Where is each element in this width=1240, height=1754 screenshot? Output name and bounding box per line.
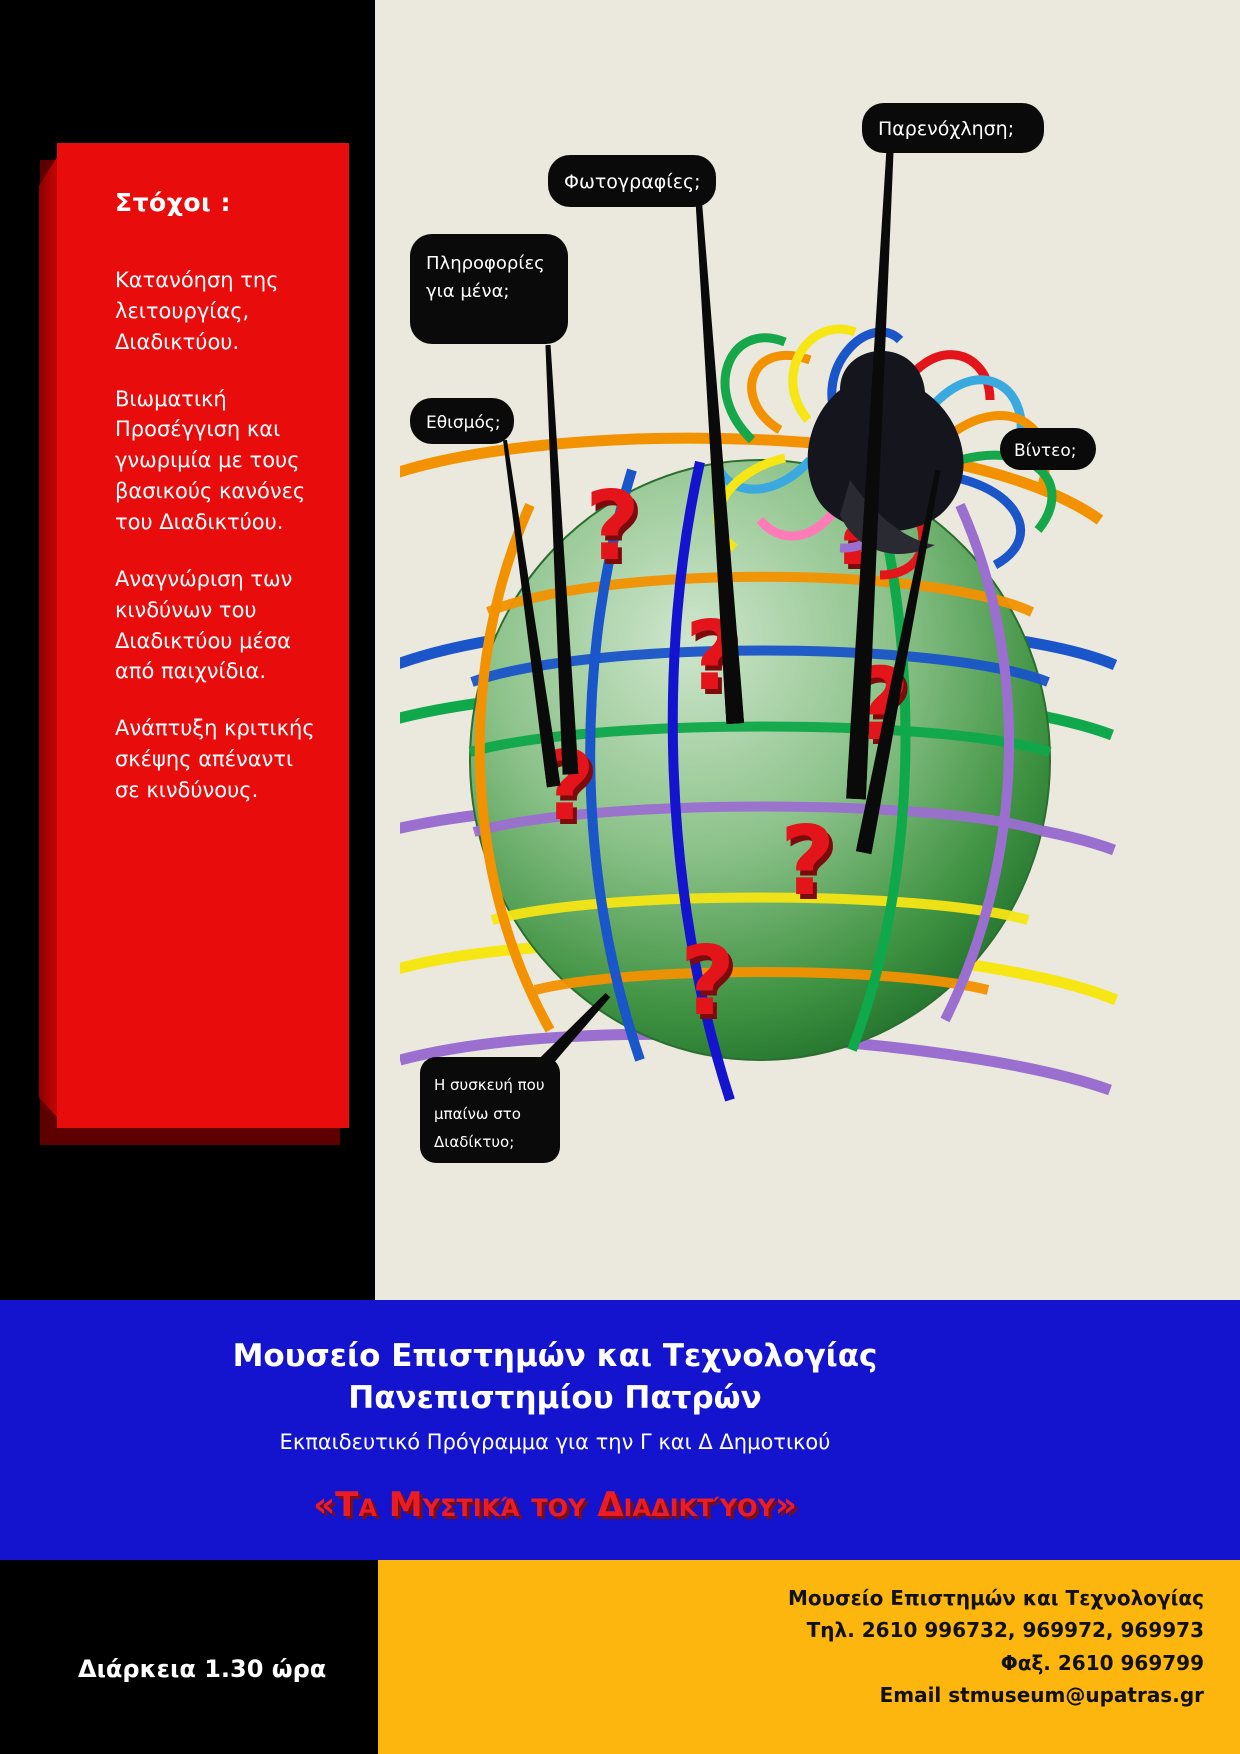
bubble-harassment[interactable]: Παρενόχληση; [862,103,1044,153]
bubble-device[interactable]: Η συσκευή που μπαίνω στο Διαδίκτυο; [420,1057,560,1163]
objective-item-2: Βιωματική Προσέγγιση και γνωριμία με του… [115,384,323,538]
question-mark-6: ? [780,815,835,910]
question-mark-1: ? [585,480,640,575]
bubble-video[interactable]: Βίντεο; [1000,428,1096,470]
duration-label: Διάρκεια 1.30 ώρα [78,1655,326,1683]
footer-blue-band: Μουσείο Επιστημών και Τεχνολογίας Πανεπι… [0,1300,1240,1560]
bubble-photos[interactable]: Φωτογραφίες; [548,155,716,207]
bubble-info-line1: Πληροφορίες για μένα; [426,253,545,302]
objectives-content: Στόχοι : Κατανόηση της λειτουργίας, Διαδ… [57,143,349,1128]
poster-root: Στόχοι : Κατανόηση της λειτουργίας, Διαδ… [0,0,1240,1754]
bubble-info[interactable]: Πληροφορίες για μένα; [410,234,568,344]
question-mark-7: ? [680,935,735,1030]
objectives-title: Στόχοι : [115,188,323,217]
objective-item-4: Ανάπτυξη κριτικής σκέψης απέναντι σε κιν… [115,713,323,806]
bubble-addiction[interactable]: Εθισμός; [410,398,514,444]
contact-phone: Τηλ. 2610 996732, 969972, 969973 [378,1614,1204,1646]
museum-name-line2: Πανεπιστημίου Πατρών [0,1380,1110,1416]
contact-email[interactable]: Email stmuseum@upatras.gr [378,1679,1204,1711]
objective-item-1: Κατανόηση της λειτουργίας, Διαδικτύου. [115,265,323,358]
contact-name: Μουσείο Επιστημών και Τεχνολογίας [378,1582,1204,1614]
program-title: «Τα Μυστικά του Διαδικτύου» [0,1485,1110,1525]
objective-item-3: Αναγνώριση των κινδύνων του Διαδικτύου μ… [115,564,323,687]
globe-illustration: ? ? ? ? ? ? ? [400,400,1120,1140]
contact-box: Μουσείο Επιστημών και Τεχνολογίας Τηλ. 2… [378,1560,1240,1754]
museum-name-line1: Μουσείο Επιστημών και Τεχνολογίας [0,1338,1110,1374]
program-subtitle: Εκπαιδευτικό Πρόγραμμα για την Γ και Δ Δ… [0,1430,1110,1454]
contact-fax: Φαξ. 2610 969799 [378,1647,1204,1679]
